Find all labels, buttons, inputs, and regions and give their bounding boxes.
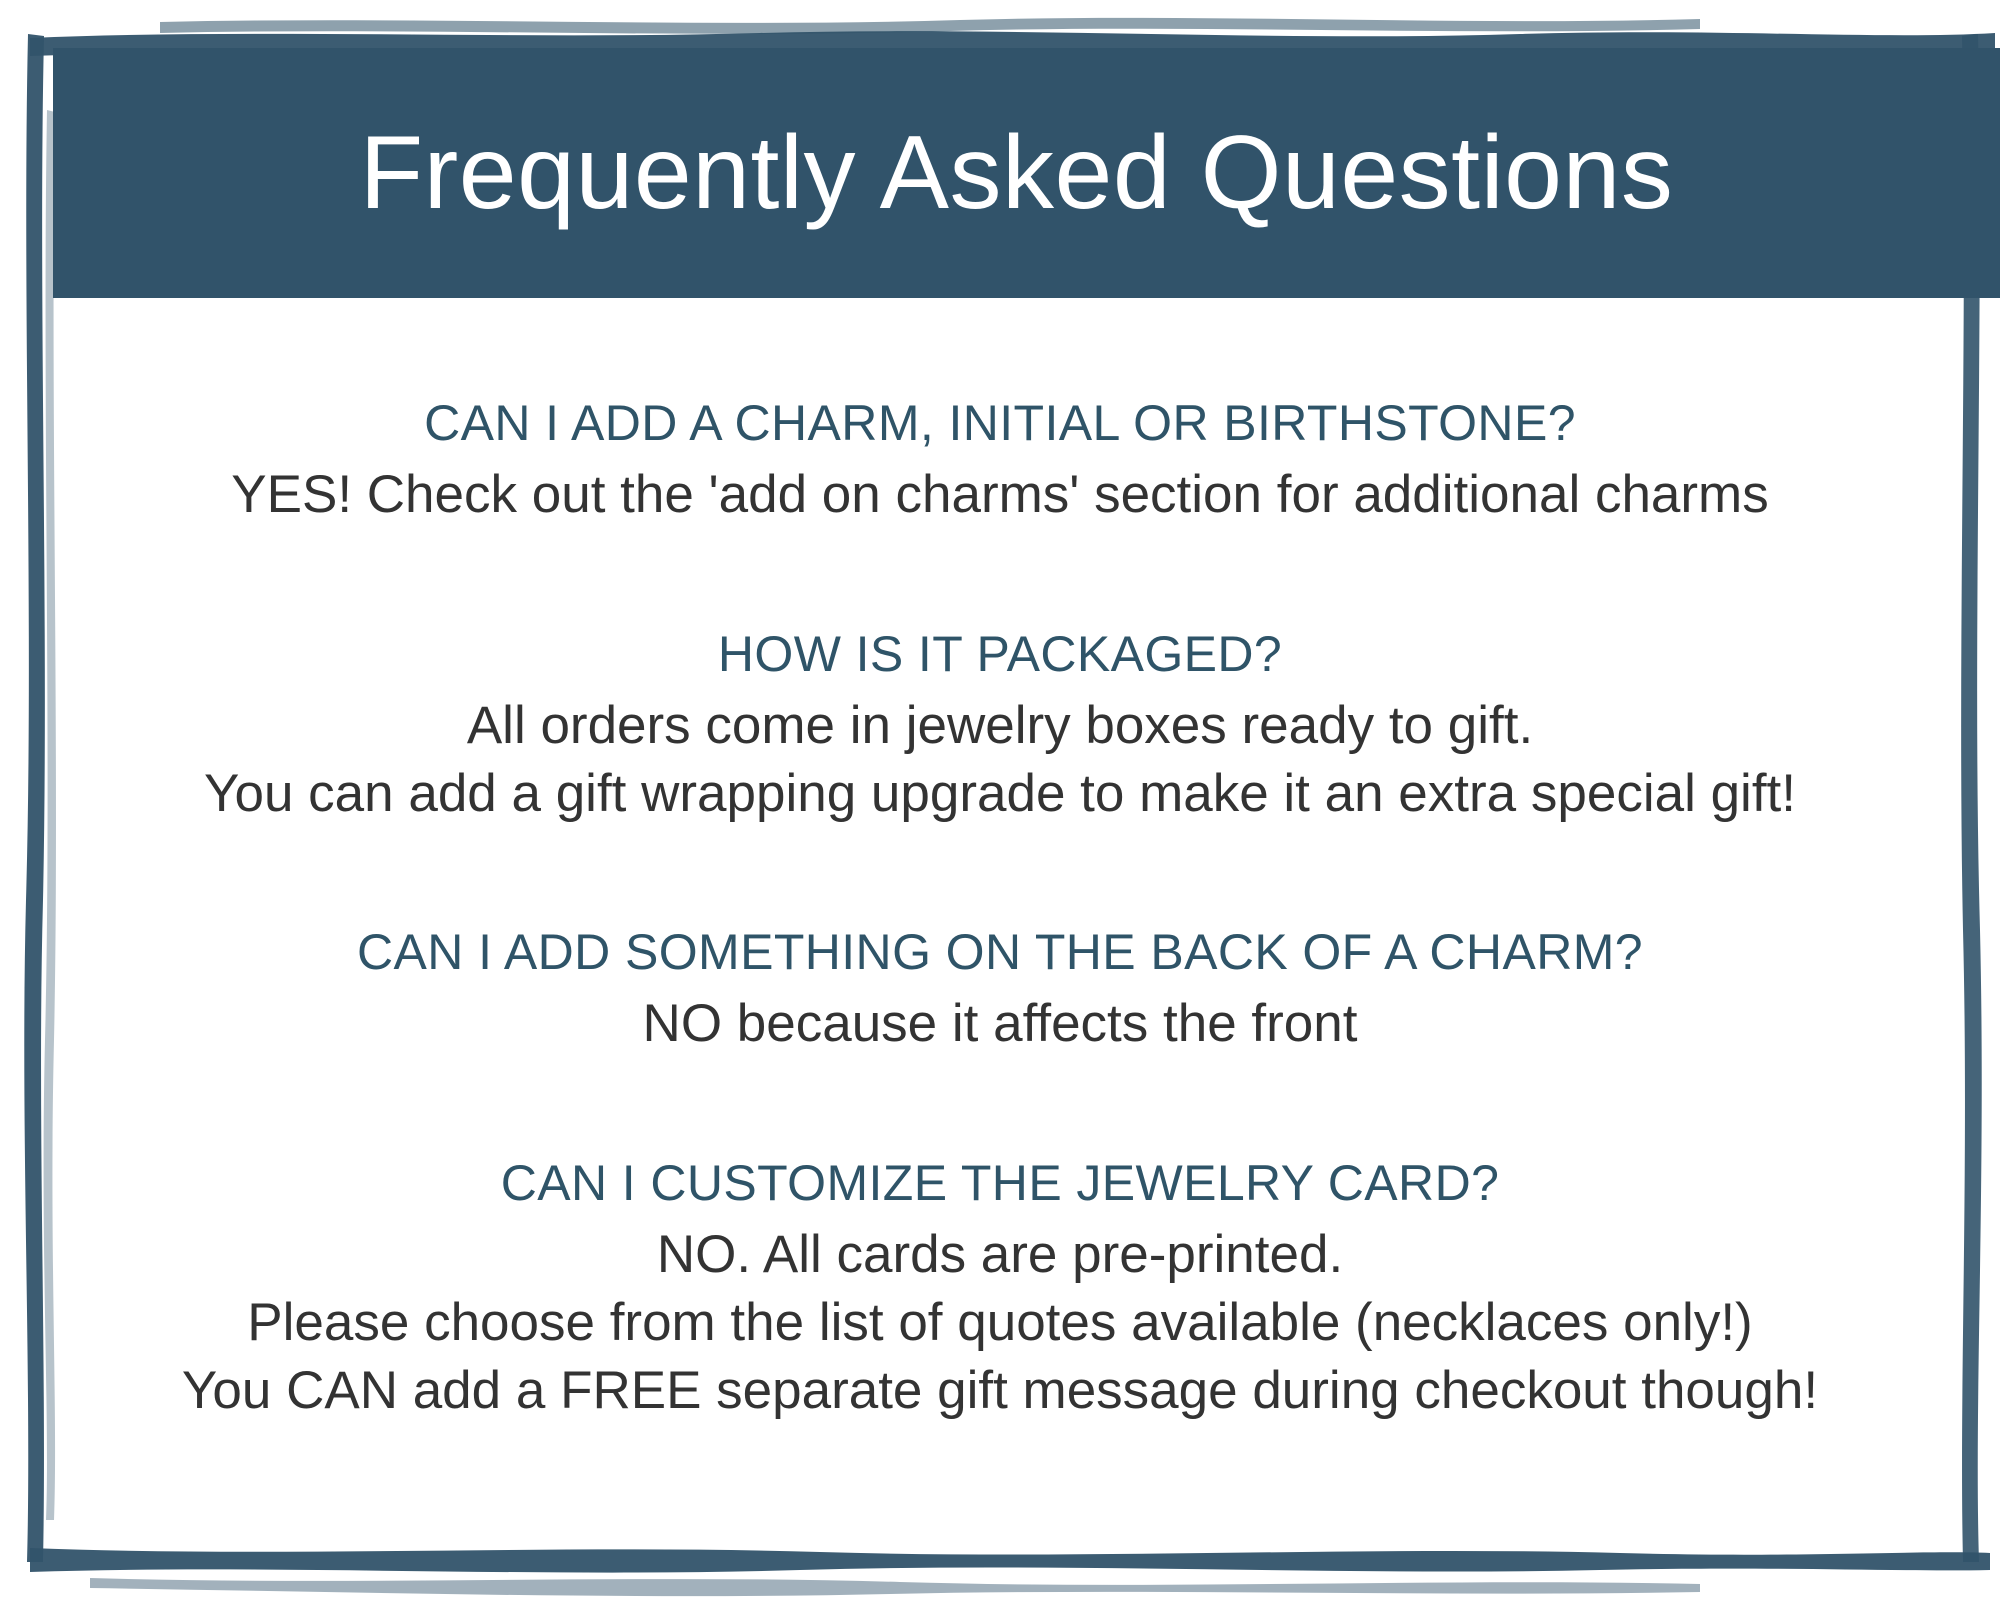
border-top-stroke-secondary — [160, 18, 1700, 34]
border-bottom-stroke-secondary — [90, 1578, 1700, 1596]
faq-question: HOW IS IT PACKAGED? — [89, 625, 1911, 684]
faq-answer-line: YES! Check out the 'add on charms' secti… — [89, 461, 1911, 529]
faq-answer-line: NO. All cards are pre-printed. — [89, 1221, 1911, 1289]
page-title: Frequently Asked Questions — [360, 121, 1674, 225]
faq-section: CAN I ADD SOMETHING ON THE BACK OF A CHA… — [89, 923, 1911, 1058]
faq-content: CAN I ADD A CHARM, INITIAL OR BIRTHSTONE… — [53, 298, 1947, 1538]
faq-answer-line: All orders come in jewelry boxes ready t… — [89, 692, 1911, 760]
faq-question: CAN I ADD SOMETHING ON THE BACK OF A CHA… — [89, 923, 1911, 982]
faq-answer-line: You can add a gift wrapping upgrade to m… — [89, 760, 1911, 828]
faq-card: Frequently Asked Questions CAN I ADD A C… — [0, 0, 2000, 1600]
faq-section: HOW IS IT PACKAGED? All orders come in j… — [89, 625, 1911, 828]
border-left-stroke — [24, 34, 45, 1562]
faq-answer-line: You CAN add a FREE separate gift message… — [89, 1357, 1911, 1425]
faq-question: CAN I ADD A CHARM, INITIAL OR BIRTHSTONE… — [89, 394, 1911, 453]
faq-question: CAN I CUSTOMIZE THE JEWELRY CARD? — [89, 1154, 1911, 1213]
header-banner: Frequently Asked Questions — [53, 48, 2000, 298]
border-bottom-stroke — [30, 1548, 1990, 1573]
faq-answer-line: NO because it affects the front — [89, 990, 1911, 1058]
faq-section: CAN I ADD A CHARM, INITIAL OR BIRTHSTONE… — [89, 394, 1911, 529]
faq-section: CAN I CUSTOMIZE THE JEWELRY CARD? NO. Al… — [89, 1154, 1911, 1424]
faq-answer-line: Please choose from the list of quotes av… — [89, 1289, 1911, 1357]
